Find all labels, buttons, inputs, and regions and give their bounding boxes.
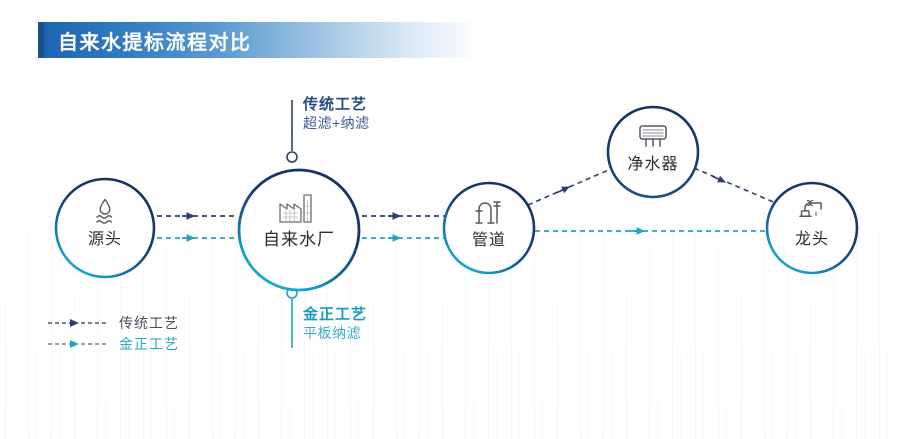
annotation-traditional-title: 传统工艺 [303,95,370,114]
diagram-canvas: 自来水提标流程对比 [0,0,900,439]
legend-label-jinzheng: 金正工艺 [119,334,179,354]
annotation-traditional: 传统工艺 超滤+纳滤 [303,95,370,133]
legend-dashed-arrow-jinzheng-icon [48,338,110,350]
ring-faucet[interactable] [767,183,857,273]
annotation-jinzheng-title: 金正工艺 [303,305,367,324]
flow-diagram [0,0,900,439]
ring-pipeline[interactable] [444,183,534,273]
ring-plant[interactable] [239,170,359,290]
ring-purifier[interactable] [608,107,698,197]
legend-label-traditional: 传统工艺 [119,313,179,333]
connector-purifier-faucet-arrow [712,176,725,182]
node-rings [56,107,857,290]
connector-pipeline-purifier [528,168,613,205]
connector-pipeline-purifier-arrow [556,187,569,193]
annotation-jinzheng: 金正工艺 平板纳滤 [303,305,367,343]
annotation-traditional-detail: 超滤+纳滤 [303,114,370,133]
legend-item-jinzheng: 金正工艺 [48,333,179,354]
legend: 传统工艺 金正工艺 [48,312,179,354]
stem-traditional-dot [287,152,297,162]
connector-purifier-faucet [694,168,778,204]
ring-source[interactable] [56,179,154,277]
annotation-jinzheng-detail: 平板纳滤 [303,324,367,343]
legend-item-traditional: 传统工艺 [48,312,179,333]
legend-dashed-arrow-traditional-icon [48,317,110,329]
